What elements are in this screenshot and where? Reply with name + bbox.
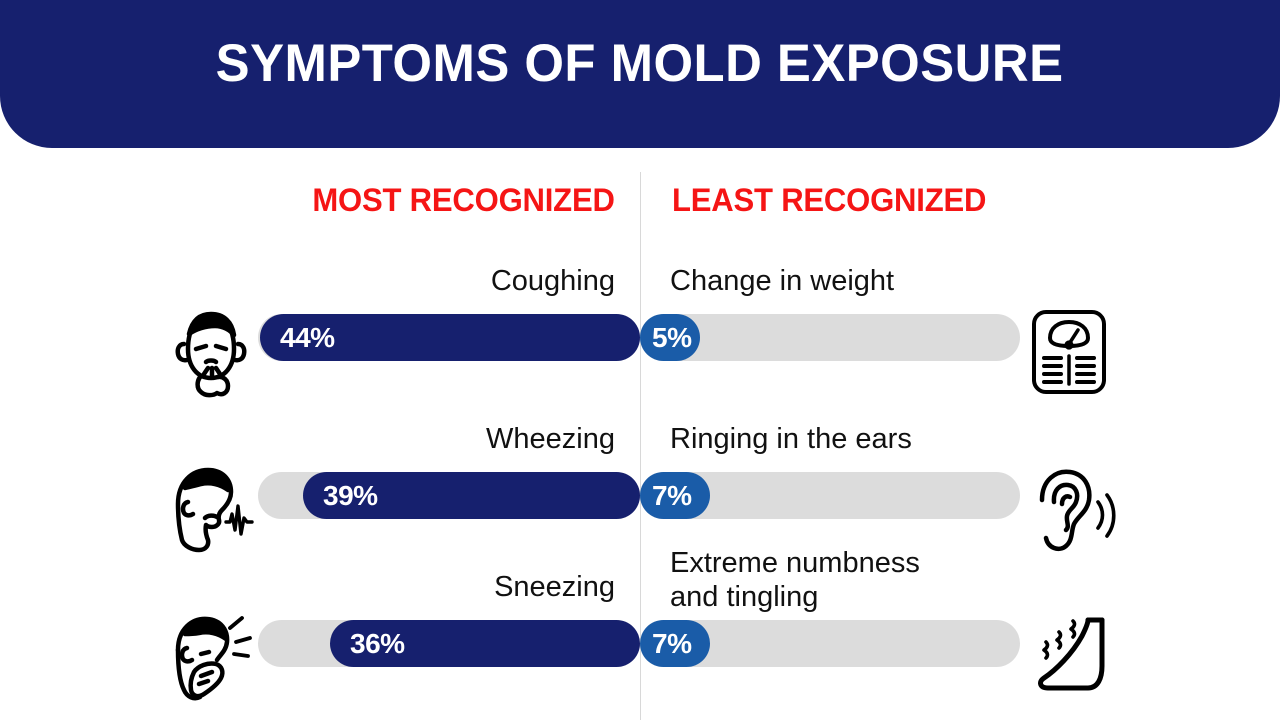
symptom-label-left: Sneezing [494,570,615,604]
foot-tingling-icon [1026,610,1118,705]
column-heading-most-recognized: MOST RECOGNIZED [313,182,615,219]
symptom-label-right: Change in weight [670,264,894,298]
bar-value-right: 7% [652,480,691,512]
bar-value-left: 39% [323,480,378,512]
wheezing-head-waveform-icon [168,462,260,557]
page-header: SYMPTOMS OF MOLD EXPOSURE [0,0,1280,148]
sneezing-tissue-icon [168,610,260,705]
ear-ringing-icon [1026,462,1118,557]
bar-value-right: 7% [652,628,691,660]
weight-scale-icon [1026,304,1112,399]
column-heading-least-recognized: LEAST RECOGNIZED [672,182,986,219]
symptom-label-right: Ringing in the ears [670,422,912,456]
bar-value-right: 5% [652,322,691,354]
symptom-label-right: Extreme numbness and tingling [670,546,920,614]
bar-fill-right: 5% [640,314,700,361]
page-title: SYMPTOMS OF MOLD EXPOSURE [216,33,1064,94]
bar-fill-left: 44% [260,314,640,361]
bar-value-left: 36% [350,628,405,660]
bar-fill-right: 7% [640,472,710,519]
bar-fill-left: 39% [303,472,640,519]
coughing-face-icon [168,304,254,399]
symptom-label-left: Wheezing [486,422,615,456]
symptom-label-left: Coughing [491,264,615,298]
bar-fill-right: 7% [640,620,710,667]
bar-fill-left: 36% [330,620,640,667]
bar-value-left: 44% [280,322,335,354]
